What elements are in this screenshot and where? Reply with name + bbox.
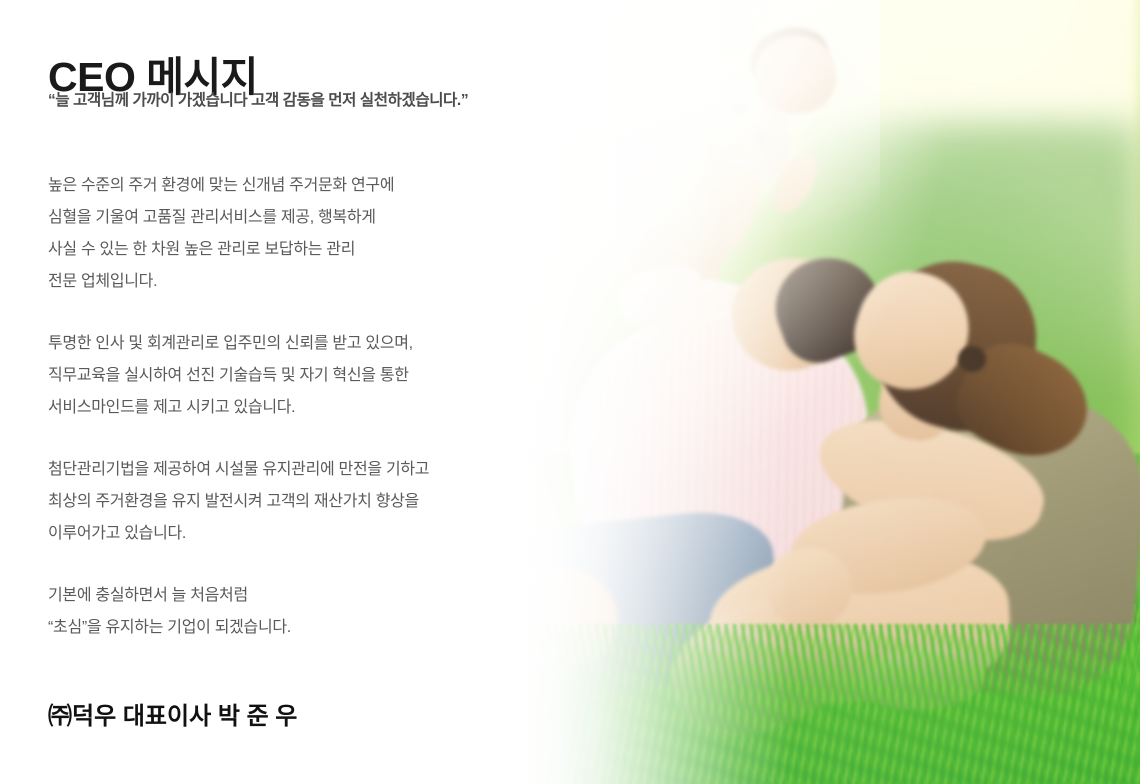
paragraph-4-line-2: “초심”을 유지하는 기업이 되겠습니다. xyxy=(48,612,518,644)
message-body: 높은 수준의 주거 환경에 맞는 신개념 주거문화 연구에 심혈을 기울여 고품… xyxy=(48,170,518,674)
paragraph-1-line-3: 사실 수 있는 한 차원 높은 관리로 보답하는 관리 xyxy=(48,234,518,266)
foreground-grass xyxy=(460,624,1140,784)
paragraph-2-line-2: 직무교육을 실시하여 선진 기술습득 및 자기 혁신을 통한 xyxy=(48,360,518,392)
ceo-signature: ㈜덕우 대표이사 박 준 우 xyxy=(48,696,297,731)
paragraph-1: 높은 수준의 주거 환경에 맞는 신개념 주거문화 연구에 심혈을 기울여 고품… xyxy=(48,170,518,298)
family-photo xyxy=(460,0,1140,784)
paragraph-3-line-3: 이루어가고 있습니다. xyxy=(48,518,518,550)
page-subtitle: “늘 고객님께 가까이 가겠습니다 고객 감동을 먼저 실천하겠습니다.” xyxy=(48,88,468,110)
ceo-message-page: CEO 메시지 “늘 고객님께 가까이 가겠습니다 고객 감동을 먼저 실천하겠… xyxy=(0,0,1140,784)
paragraph-3-line-1: 첨단관리기법을 제공하여 시설물 유지관리에 만전을 기하고 xyxy=(48,454,518,486)
paragraph-3: 첨단관리기법을 제공하여 시설물 유지관리에 만전을 기하고 최상의 주거환경을… xyxy=(48,454,518,550)
paragraph-2: 투명한 인사 및 회계관리로 입주민의 신뢰를 받고 있으며, 직무교육을 실시… xyxy=(48,328,518,424)
paragraph-1-line-4: 전문 업체입니다. xyxy=(48,266,518,298)
paragraph-2-line-3: 서비스마인드를 제고 시키고 있습니다. xyxy=(48,392,518,424)
paragraph-2-line-1: 투명한 인사 및 회계관리로 입주민의 신뢰를 받고 있으며, xyxy=(48,328,518,360)
paragraph-3-line-2: 최상의 주거환경을 유지 발전시켜 고객의 재산가치 향상을 xyxy=(48,486,518,518)
paragraph-4: 기본에 충실하면서 늘 처음처럼 “초심”을 유지하는 기업이 되겠습니다. xyxy=(48,580,518,644)
paragraph-1-line-1: 높은 수준의 주거 환경에 맞는 신개념 주거문화 연구에 xyxy=(48,170,518,202)
mother-hair-tie xyxy=(958,346,986,372)
paragraph-4-line-1: 기본에 충실하면서 늘 처음처럼 xyxy=(48,580,518,612)
message-content: CEO 메시지 “늘 고객님께 가까이 가겠습니다 고객 감동을 먼저 실천하겠… xyxy=(0,0,540,784)
paragraph-1-line-2: 심혈을 기울여 고품질 관리서비스를 제공, 행복하게 xyxy=(48,202,518,234)
